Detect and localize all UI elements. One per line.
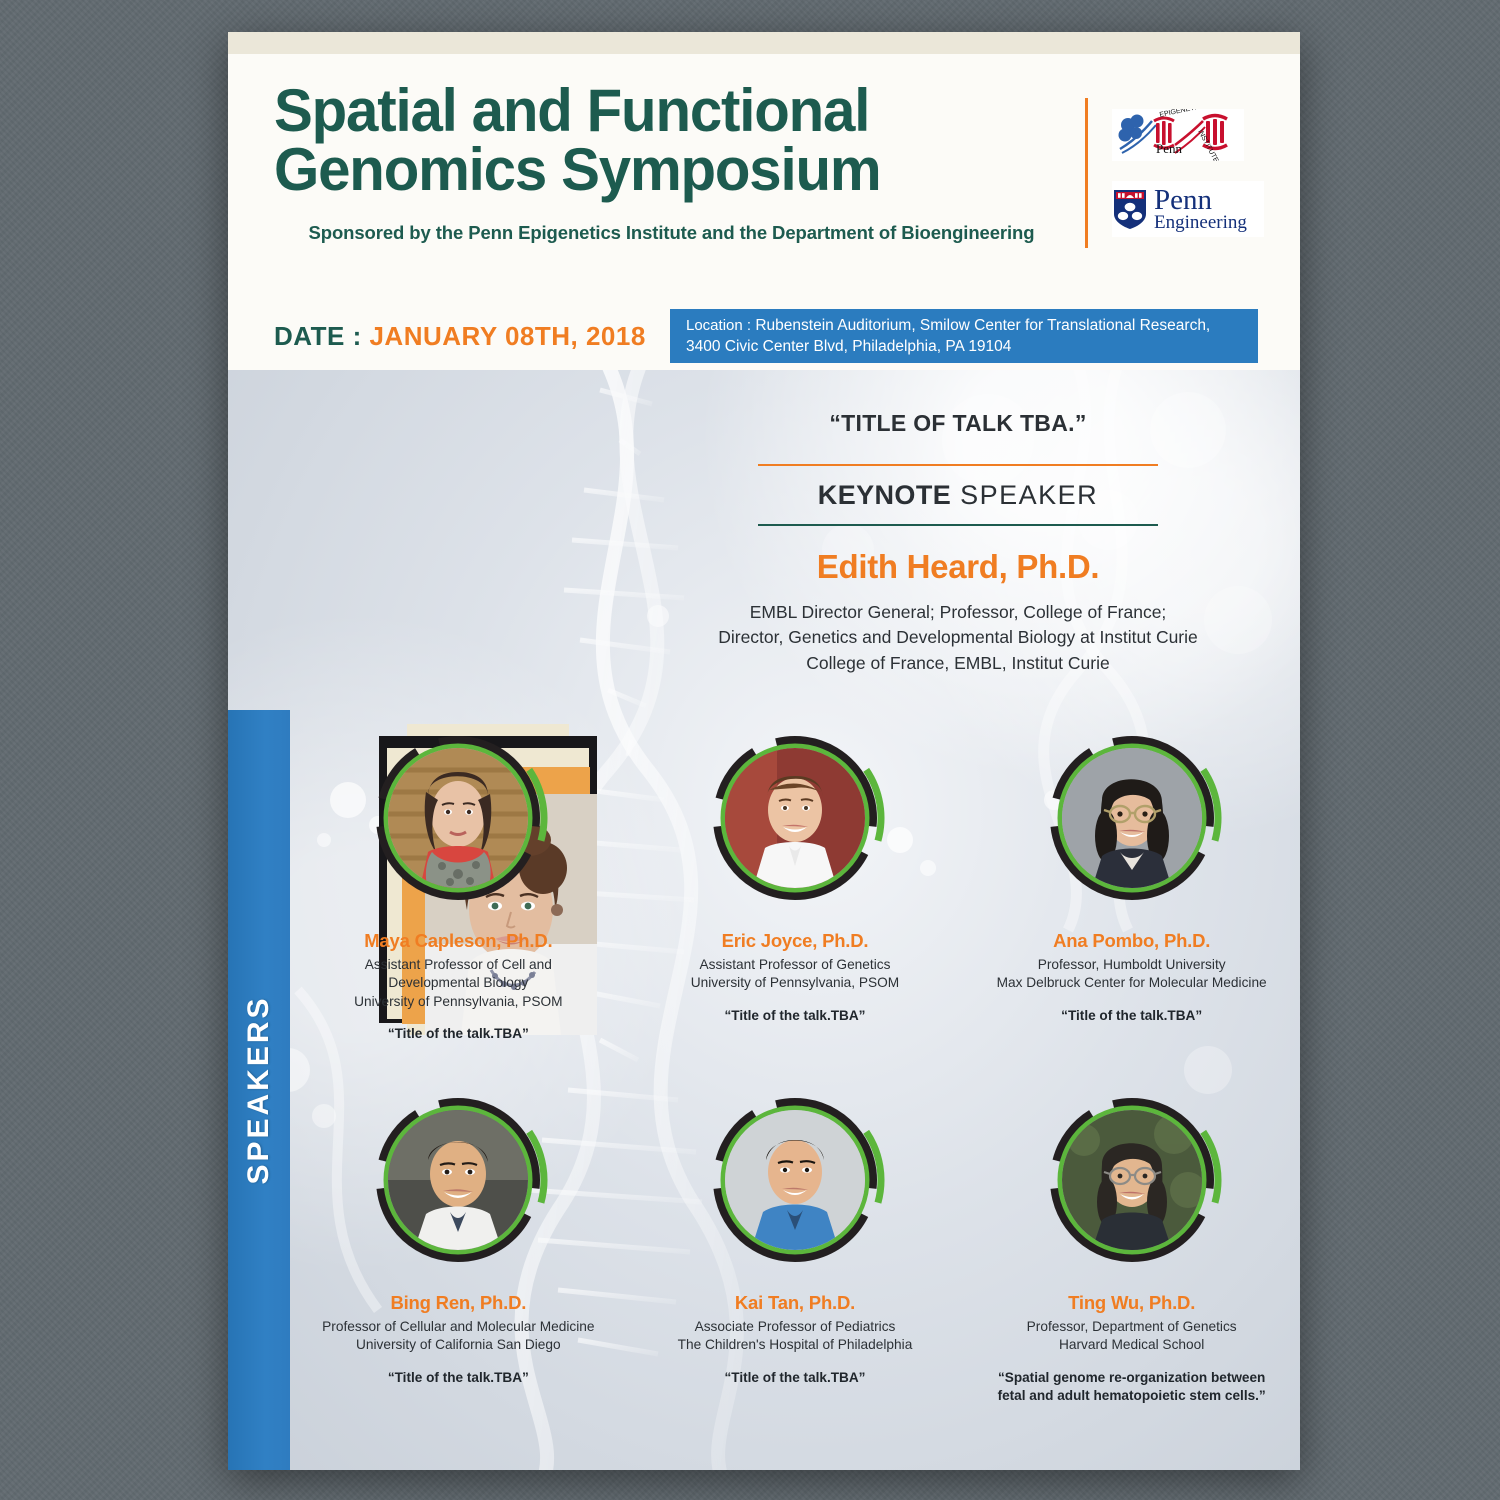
speaker-affiliation: Assistant Professor of GeneticsUniversit… — [691, 956, 899, 993]
subtitle: Sponsored by the Penn Epigenetics Instit… — [264, 222, 1079, 244]
speaker-ring — [697, 720, 893, 916]
speaker-name: Eric Joyce, Ph.D. — [722, 930, 869, 952]
keynote-affiliation-line-2: Director, Genetics and Developmental Bio… — [658, 625, 1258, 650]
title-block: Spatial and Functional Genomics Symposiu… — [228, 76, 1074, 244]
keynote-affiliation-line-1: EMBL Director General; Professor, Colleg… — [658, 600, 1258, 625]
speaker-ring — [697, 1082, 893, 1278]
speakers-sidebar: SPEAKERS — [228, 710, 290, 1470]
epigenetics-dna-icon: EPIGENETICS INSTITUTE Penn — [1112, 109, 1244, 161]
speaker-ring — [1034, 1082, 1230, 1278]
title-line-1: Spatial and Functional — [274, 77, 869, 144]
keynote-label-light: SPEAKER — [951, 480, 1098, 510]
speaker-card: Ana Pombo, Ph.D. Professor, Humboldt Uni… — [963, 720, 1300, 1044]
logo-group: EPIGENETICS INSTITUTE Penn — [1085, 98, 1264, 248]
speaker-portrait-illustration — [388, 748, 528, 888]
speakers-sidebar-label: SPEAKERS — [242, 995, 276, 1184]
keynote-affiliation: EMBL Director General; Professor, Colleg… — [658, 600, 1258, 676]
speaker-talk-title: “Title of the talk.TBA” — [388, 1025, 529, 1043]
speaker-name: Kai Tan, Ph.D. — [735, 1292, 855, 1314]
speaker-name: Ana Pombo, Ph.D. — [1053, 930, 1210, 952]
keynote-name: Edith Heard, Ph.D. — [658, 548, 1258, 586]
speaker-portrait-illustration — [725, 748, 865, 888]
speaker-portrait-photo — [1062, 748, 1202, 888]
speaker-talk-title: “Title of the talk.TBA” — [725, 1007, 866, 1025]
info-bar: DATE : JANUARY 08TH, 2018 Location : Rub… — [228, 302, 1300, 370]
speaker-portrait-photo — [725, 748, 865, 888]
speaker-ring — [360, 720, 556, 916]
keynote-text-block: “TITLE OF TALK TBA.” KEYNOTE SPEAKER Edi… — [658, 410, 1258, 676]
top-cream-band — [228, 32, 1300, 54]
speaker-card: Bing Ren, Ph.D. Professor of Cellular an… — [290, 1082, 627, 1406]
date-block: DATE : JANUARY 08TH, 2018 — [228, 321, 646, 352]
penn-engineering-line2: Engineering — [1154, 214, 1247, 231]
speaker-card: Maya Capleson, Ph.D. Assistant Professor… — [290, 720, 627, 1044]
speaker-card: Kai Tan, Ph.D. Associate Professor of Pe… — [627, 1082, 964, 1406]
penn-engineering-line1: Penn — [1154, 187, 1247, 214]
keynote-talk-title: “TITLE OF TALK TBA.” — [658, 410, 1258, 437]
speaker-portrait-photo — [725, 1110, 865, 1250]
speaker-name: Ting Wu, Ph.D. — [1068, 1292, 1195, 1314]
speaker-portrait-illustration — [1062, 748, 1202, 888]
speaker-name: Maya Capleson, Ph.D. — [364, 930, 552, 952]
speaker-portrait-illustration — [388, 1110, 528, 1250]
poster: Spatial and Functional Genomics Symposiu… — [228, 32, 1300, 1470]
penn-wordmark: Penn — [1156, 141, 1183, 156]
speaker-ring — [1034, 720, 1230, 916]
speaker-ring — [360, 1082, 556, 1278]
date-label: DATE : — [274, 321, 362, 351]
speaker-affiliation: Professor, Department of GeneticsHarvard… — [1027, 1318, 1237, 1355]
title-line-2: Genomics Symposium — [274, 141, 1050, 200]
page-title: Spatial and Functional Genomics Symposiu… — [274, 82, 1050, 200]
speaker-portrait-illustration — [1062, 1110, 1202, 1250]
epigenetics-wordmark: EPIGENETICS — [1159, 109, 1207, 119]
poster-header: Spatial and Functional Genomics Symposiu… — [228, 54, 1300, 302]
speaker-talk-title: “Title of the talk.TBA” — [388, 1369, 529, 1387]
location-label: Location : — [686, 317, 751, 334]
poster-body: “TITLE OF TALK TBA.” KEYNOTE SPEAKER Edi… — [228, 370, 1300, 1470]
keynote-speaker-label: KEYNOTE SPEAKER — [658, 480, 1258, 511]
location-box: Location : Rubenstein Auditorium, Smilow… — [670, 309, 1258, 363]
speaker-portrait-photo — [388, 1110, 528, 1250]
speaker-affiliation: Professor of Cellular and Molecular Medi… — [322, 1318, 594, 1355]
speaker-portrait-illustration — [725, 1110, 865, 1250]
logo-divider-rule — [1085, 98, 1088, 248]
speaker-card: Ting Wu, Ph.D. Professor, Department of … — [963, 1082, 1300, 1406]
speaker-talk-title: “Title of the talk.TBA” — [1061, 1007, 1202, 1025]
speaker-portrait-photo — [388, 748, 528, 888]
speaker-affiliation: Assistant Professor of Cell andDevelopme… — [354, 956, 562, 1011]
keynote-rule-green — [758, 524, 1158, 526]
penn-engineering-logo: Penn Engineering — [1112, 181, 1264, 237]
speaker-card: Eric Joyce, Ph.D. Assistant Professor of… — [627, 720, 964, 1044]
speaker-name: Bing Ren, Ph.D. — [390, 1292, 526, 1314]
date-value: JANUARY 08TH, 2018 — [369, 321, 645, 351]
speaker-affiliation: Professor, Humboldt UniversityMax Delbru… — [997, 956, 1267, 993]
speaker-talk-title: “Title of the talk.TBA” — [725, 1369, 866, 1387]
speaker-affiliation: Associate Professor of PediatricsThe Chi… — [678, 1318, 913, 1355]
speaker-talk-title: “Spatial genome re-organization between … — [987, 1369, 1277, 1406]
speakers-grid: Maya Capleson, Ph.D. Assistant Professor… — [290, 720, 1300, 1405]
keynote-affiliation-line-3: College of France, EMBL, Institut Curie — [658, 651, 1258, 676]
keynote-rule-orange — [758, 464, 1158, 466]
penn-shield-icon — [1112, 188, 1148, 230]
keynote-label-bold: KEYNOTE — [818, 480, 951, 510]
location-value: Rubenstein Auditorium, Smilow Center for… — [686, 317, 1210, 355]
speaker-portrait-photo — [1062, 1110, 1202, 1250]
penn-epigenetics-institute-logo: EPIGENETICS INSTITUTE Penn — [1112, 109, 1244, 161]
